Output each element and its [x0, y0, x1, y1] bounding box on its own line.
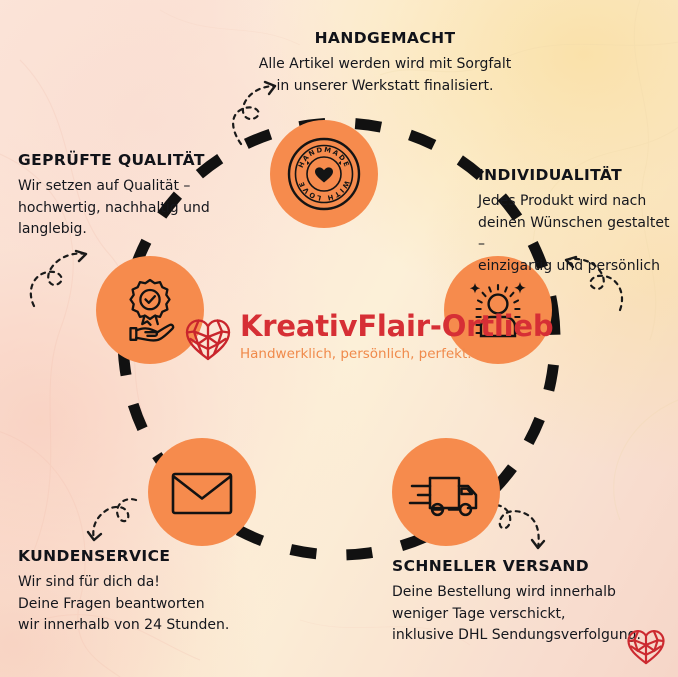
feature-block-handmade: HANDGEMACHT Alle Artikel werden wird mit…	[250, 30, 520, 97]
hand-holding-quality-badge-icon	[114, 274, 186, 346]
node-customer-service[interactable]	[148, 438, 256, 546]
geometric-heart-icon	[184, 317, 232, 361]
feature-block-customer-service: KUNDENSERVICE Wir sind für dich da! Dein…	[18, 548, 248, 637]
brand-name: KreativFlair-Ortlieb	[240, 312, 553, 341]
feature-heading-shipping: SCHNELLER VERSAND	[392, 558, 642, 575]
feature-heading-handmade: HANDGEMACHT	[250, 30, 520, 47]
feature-block-quality: GEPRÜFTE QUALITÄT Wir setzen auf Qualitä…	[18, 152, 233, 241]
envelope-icon	[167, 457, 237, 527]
brand-tagline: Handwerklich, persönlich, perfekt.	[240, 346, 553, 362]
feature-body-quality: Wir setzen auf Qualität – hochwertig, na…	[18, 176, 233, 241]
feature-body-handmade: Alle Artikel werden wird mit Sorgfalt in…	[250, 54, 520, 97]
node-shipping[interactable]	[392, 438, 500, 546]
brand-logo-text: KreativFlair-Ortlieb Handwerklich, persö…	[240, 312, 553, 362]
feature-heading-customer-service: KUNDENSERVICE	[18, 548, 248, 565]
feature-body-individuality: Jedes Produkt wird nach deinen Wünschen …	[478, 191, 678, 278]
delivery-truck-icon	[408, 456, 484, 528]
brand-logo[interactable]: KreativFlair-Ortlieb Handwerklich, persö…	[184, 312, 454, 378]
feature-heading-quality: GEPRÜFTE QUALITÄT	[18, 152, 233, 169]
feature-block-individuality: INDIVIDUALITÄT Jedes Produkt wird nach d…	[478, 167, 678, 278]
geometric-heart-watermark-icon	[626, 628, 666, 665]
feature-heading-individuality: INDIVIDUALITÄT	[478, 167, 678, 184]
node-handmade[interactable]: HANDMADE WITH LOVE	[270, 120, 378, 228]
feature-block-shipping: SCHNELLER VERSAND Deine Bestellung wird …	[392, 558, 642, 647]
feature-body-customer-service: Wir sind für dich da! Deine Fragen beant…	[18, 572, 248, 637]
infographic-canvas: HANDMADE WITH LOVE	[0, 0, 678, 677]
feature-body-shipping: Deine Bestellung wird innerhalb weniger …	[392, 582, 642, 647]
handmade-with-love-stamp-icon: HANDMADE WITH LOVE	[285, 135, 363, 213]
